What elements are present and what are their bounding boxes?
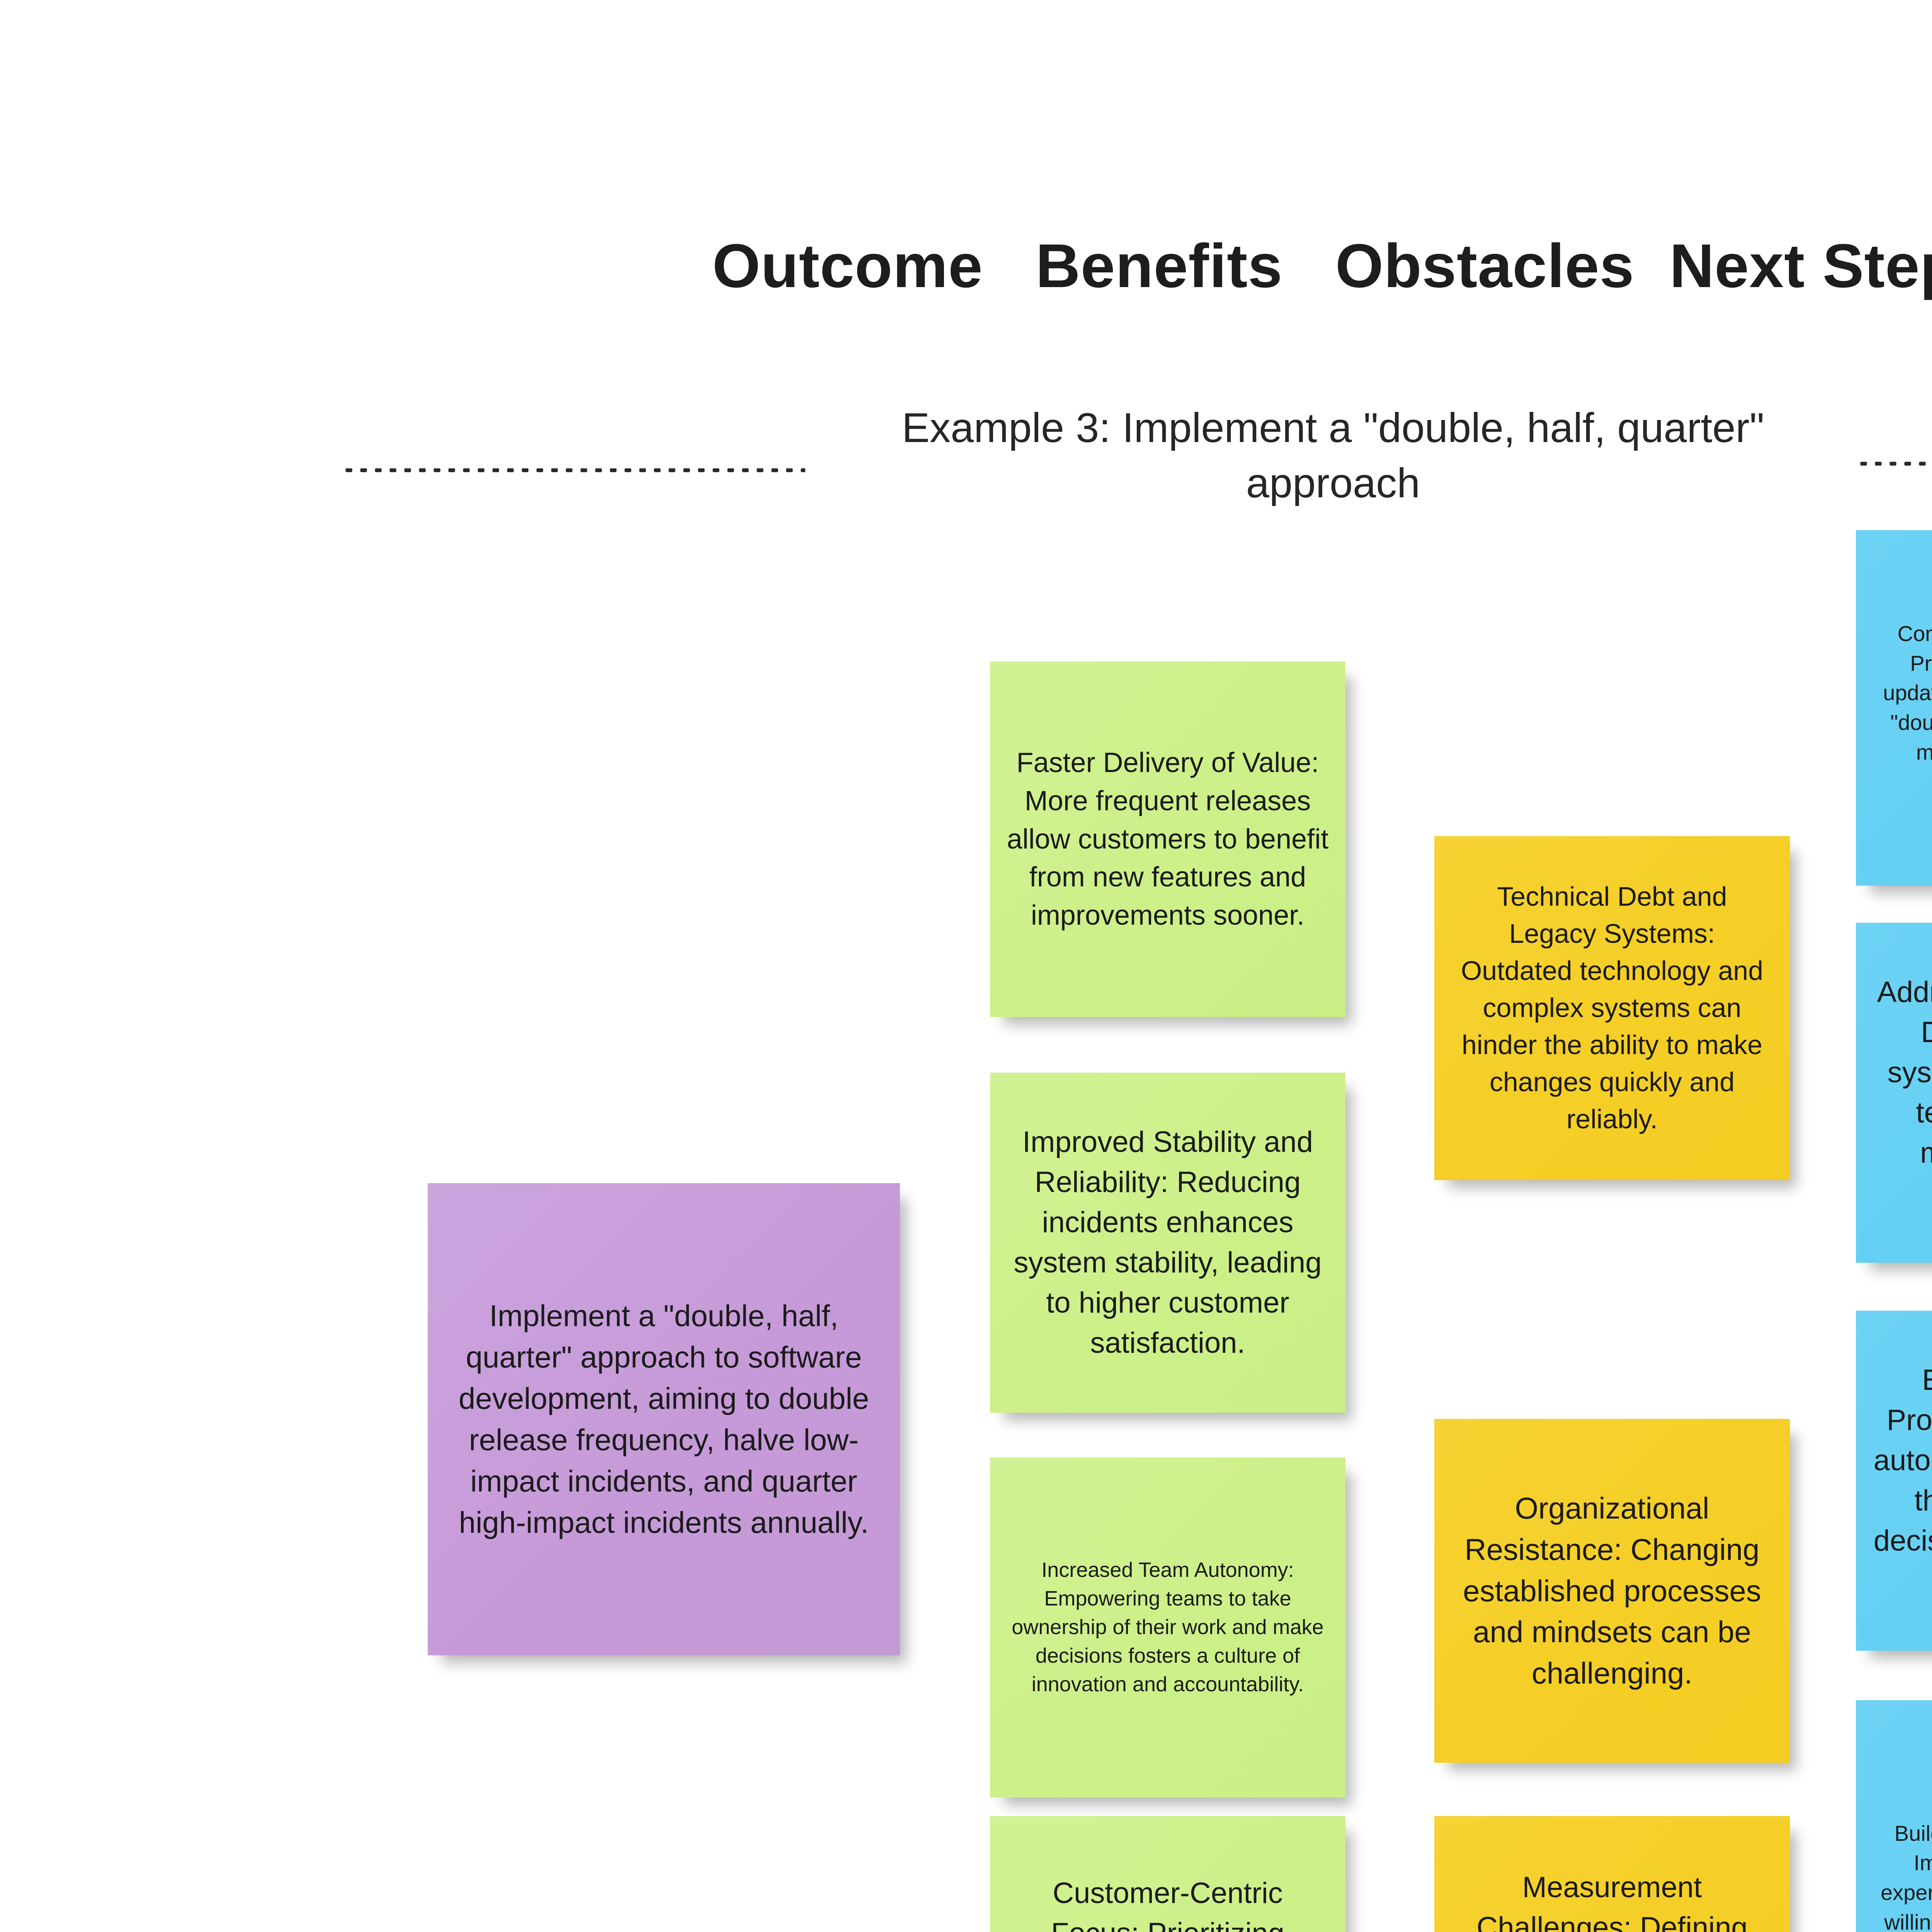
dotted-divider-right	[1856, 462, 1932, 466]
sticky-note-next-step[interactable]: Build a Culture of Continuous Improvemen…	[1856, 1700, 1932, 1932]
sticky-note-next-step[interactable]: Empower Teams: Provide teams with the au…	[1856, 1311, 1932, 1651]
sticky-note-benefit[interactable]: Improved Stability and Reliability: Redu…	[990, 1073, 1345, 1413]
sticky-note-text: Organizational Resistance: Changing esta…	[1450, 1488, 1774, 1694]
sticky-note-next-step[interactable]: Address Technical Debt: Develop a plan t…	[1856, 923, 1932, 1263]
sticky-note-benefit[interactable]: Customer-Centric Focus: Prioritizing met…	[990, 1816, 1345, 1932]
sticky-note-text: Faster Delivery of Value: More frequent …	[1005, 744, 1330, 934]
dotted-divider-left	[342, 468, 805, 472]
sticky-note-text: Measurement Challenges: Defining and tra…	[1450, 1867, 1774, 1932]
page-title: Outcome Benefits Obstacles Next Steps	[0, 232, 1932, 300]
page-subtitle: Example 3: Implement a "double, half, qu…	[873, 400, 1793, 510]
whiteboard-canvas: Outcome Benefits Obstacles Next Steps Ex…	[0, 0, 1932, 1932]
sticky-note-text: Implement a "double, half, quarter" appr…	[443, 1295, 884, 1543]
sticky-note-text: Improved Stability and Reliability: Redu…	[1005, 1122, 1330, 1364]
sticky-note-benefit[interactable]: Faster Delivery of Value: More frequent …	[990, 662, 1345, 1017]
sticky-note-text: Communicate and Celebrate Progress: Regu…	[1871, 619, 1932, 797]
sticky-note-obstacle[interactable]: Technical Debt and Legacy Systems: Outda…	[1434, 836, 1790, 1180]
sticky-note-text: Technical Debt and Legacy Systems: Outda…	[1450, 878, 1774, 1138]
sticky-note-benefit[interactable]: Increased Team Autonomy: Empowering team…	[990, 1458, 1345, 1798]
sticky-note-outcome[interactable]: Implement a "double, half, quarter" appr…	[428, 1183, 900, 1655]
sticky-note-text: Increased Team Autonomy: Empowering team…	[1005, 1556, 1330, 1699]
sticky-note-next-step[interactable]: Communicate and Celebrate Progress: Regu…	[1856, 530, 1932, 886]
sticky-note-obstacle[interactable]: Measurement Challenges: Defining and tra…	[1434, 1816, 1790, 1932]
sticky-note-text: Empower Teams: Provide teams with the au…	[1871, 1360, 1932, 1602]
sticky-note-text: Customer-Centric Focus: Prioritizing met…	[1005, 1873, 1330, 1932]
sticky-note-text: Build a Culture of Continuous Improvemen…	[1871, 1819, 1932, 1932]
sticky-note-obstacle[interactable]: Organizational Resistance: Changing esta…	[1434, 1419, 1790, 1763]
sticky-note-text: Address Technical Debt: Develop a plan t…	[1871, 972, 1932, 1214]
